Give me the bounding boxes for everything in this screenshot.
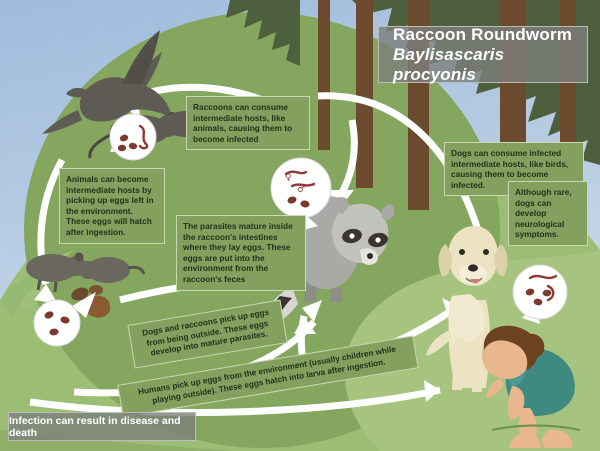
male-symbol: ♂ <box>297 185 305 195</box>
callout-raccoon-consume: Raccoons can consume intermediate hosts,… <box>186 96 310 150</box>
callout-parasites-mature: The parasites mature inside the raccoon'… <box>176 215 306 291</box>
mag-environment <box>34 292 96 346</box>
warning-panel: Infection can result in disease and deat… <box>8 412 196 441</box>
female-symbol: ♀ <box>285 173 292 183</box>
mag-dog-circle <box>513 265 567 319</box>
callout-dogs-neurological: Although rare, dogs can develop neurolog… <box>508 181 588 246</box>
mag-bird-circle <box>110 114 156 160</box>
mag-bird <box>110 114 156 160</box>
title-panel: Raccoon Roundworm Baylisascaris procyoni… <box>378 26 588 83</box>
title-common-name: Raccoon Roundworm <box>393 25 587 45</box>
worm <box>530 276 556 278</box>
callout-animals-intermediate: Animals can become intermediate hosts by… <box>59 168 165 244</box>
mag-dog <box>513 265 567 324</box>
title-scientific-name: Baylisascaris procyonis <box>393 45 587 85</box>
mag-env-circle <box>34 300 80 346</box>
infographic-canvas: ♀ ♂ Raccoons can consume intermediate ho… <box>0 0 600 451</box>
